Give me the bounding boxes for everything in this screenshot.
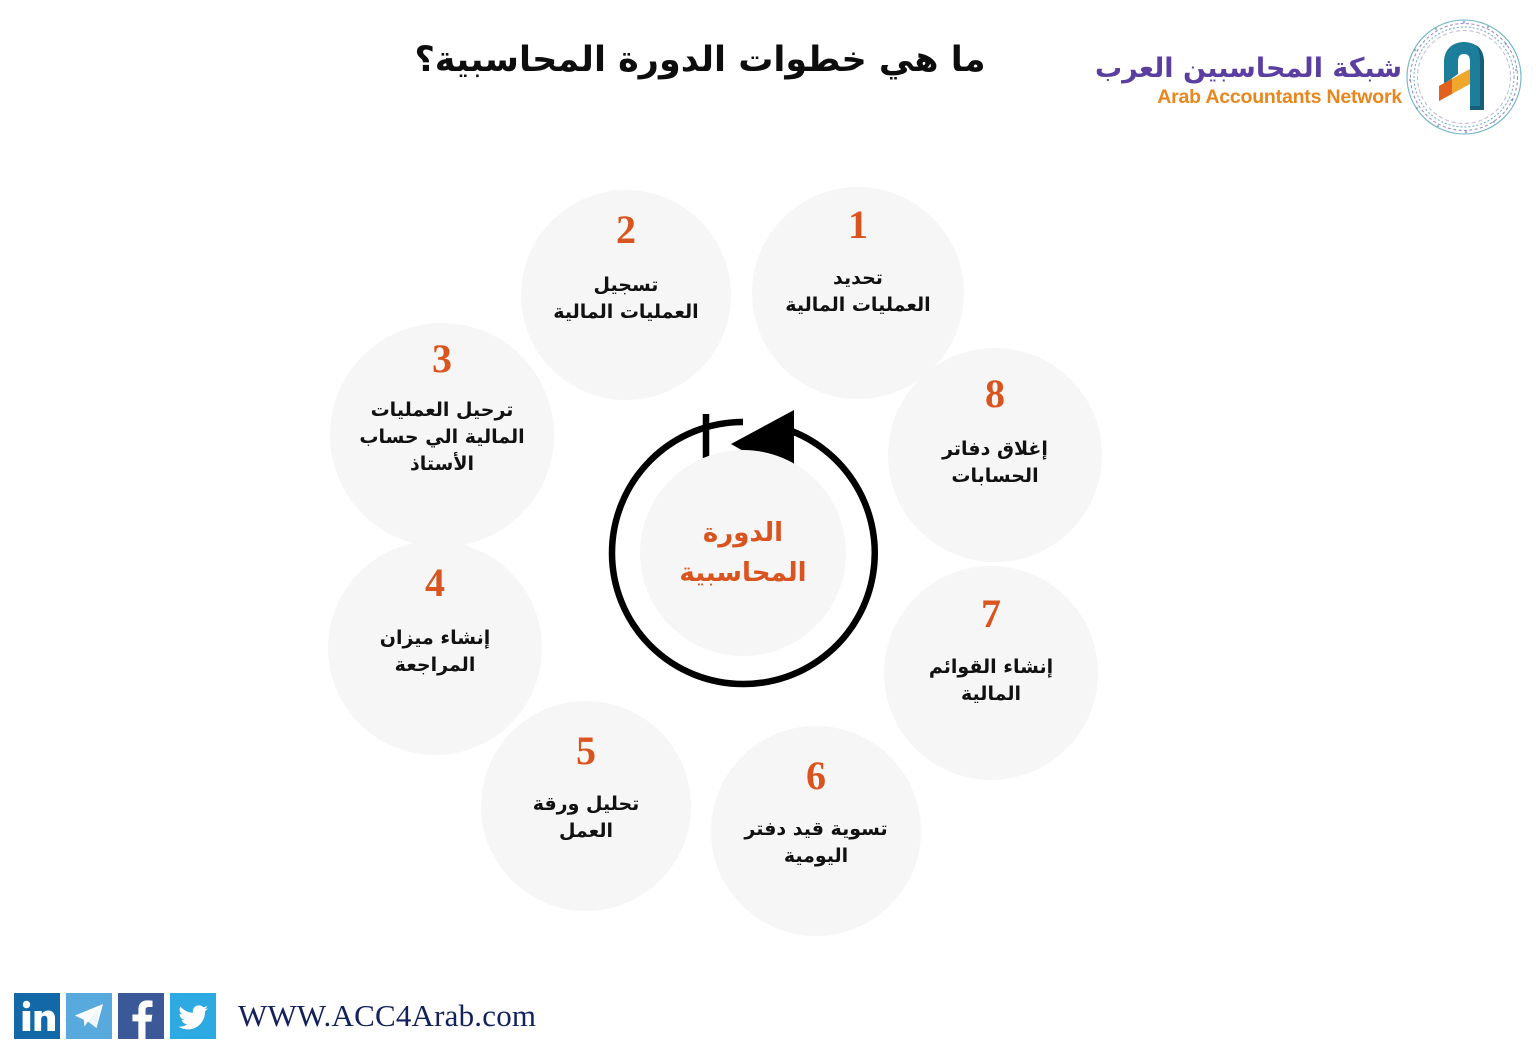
cycle-step-4[interactable]: 4 إنشاء ميزان المراجعة [328, 541, 542, 755]
cycle-step-8-number: 8 [985, 374, 1005, 414]
cycle-step-5-number: 5 [576, 731, 596, 771]
cycle-step-4-number: 4 [425, 563, 445, 603]
site-url[interactable]: WWW.ACC4Arab.com [238, 998, 536, 1034]
cycle-step-6[interactable]: 6 تسوية قيد دفتر اليومية [711, 726, 921, 936]
accounting-cycle-diagram: 1 تحديد العمليات المالية 2 تسجيل العمليا… [0, 0, 1536, 1056]
telegram-icon[interactable] [66, 993, 112, 1039]
cycle-step-1-number: 1 [848, 205, 868, 245]
linkedin-icon[interactable] [14, 993, 60, 1039]
footer: WWW.ACC4Arab.com [14, 990, 536, 1042]
cycle-step-4-label: إنشاء ميزان المراجعة [368, 625, 503, 679]
cycle-step-6-label: تسوية قيد دفتر اليومية [732, 816, 899, 870]
cycle-step-3[interactable]: 3 ترحيل العمليات المالية الي حساب الأستا… [330, 323, 554, 547]
cycle-step-3-label: ترحيل العمليات المالية الي حساب الأستاذ [347, 397, 536, 478]
cycle-step-2-label: تسجيل العمليات المالية [541, 272, 710, 326]
cycle-step-8[interactable]: 8 إغلاق دفاتر الحسابات [888, 348, 1102, 562]
cycle-step-1-label: تحديد العمليات المالية [773, 265, 942, 319]
cycle-step-3-number: 3 [432, 339, 452, 379]
facebook-icon[interactable] [118, 993, 164, 1039]
cycle-center-label: الدورة المحاسبية [679, 513, 806, 594]
cycle-step-5[interactable]: 5 تحليل ورقة العمل [481, 701, 691, 911]
cycle-center-disc: الدورة المحاسبية [640, 450, 846, 656]
cycle-step-2[interactable]: 2 تسجيل العمليات المالية [521, 190, 731, 400]
cycle-step-8-label: إغلاق دفاتر الحسابات [930, 436, 1060, 490]
cycle-step-7-label: إنشاء القوائم المالية [917, 654, 1065, 708]
twitter-icon[interactable] [170, 993, 216, 1039]
cycle-center: الدورة المحاسبية [598, 408, 888, 698]
cycle-step-2-number: 2 [616, 210, 636, 250]
cycle-step-7[interactable]: 7 إنشاء القوائم المالية [884, 566, 1098, 780]
cycle-step-5-label: تحليل ورقة العمل [521, 791, 652, 845]
cycle-step-6-number: 6 [806, 756, 826, 796]
cycle-step-7-number: 7 [981, 594, 1001, 634]
